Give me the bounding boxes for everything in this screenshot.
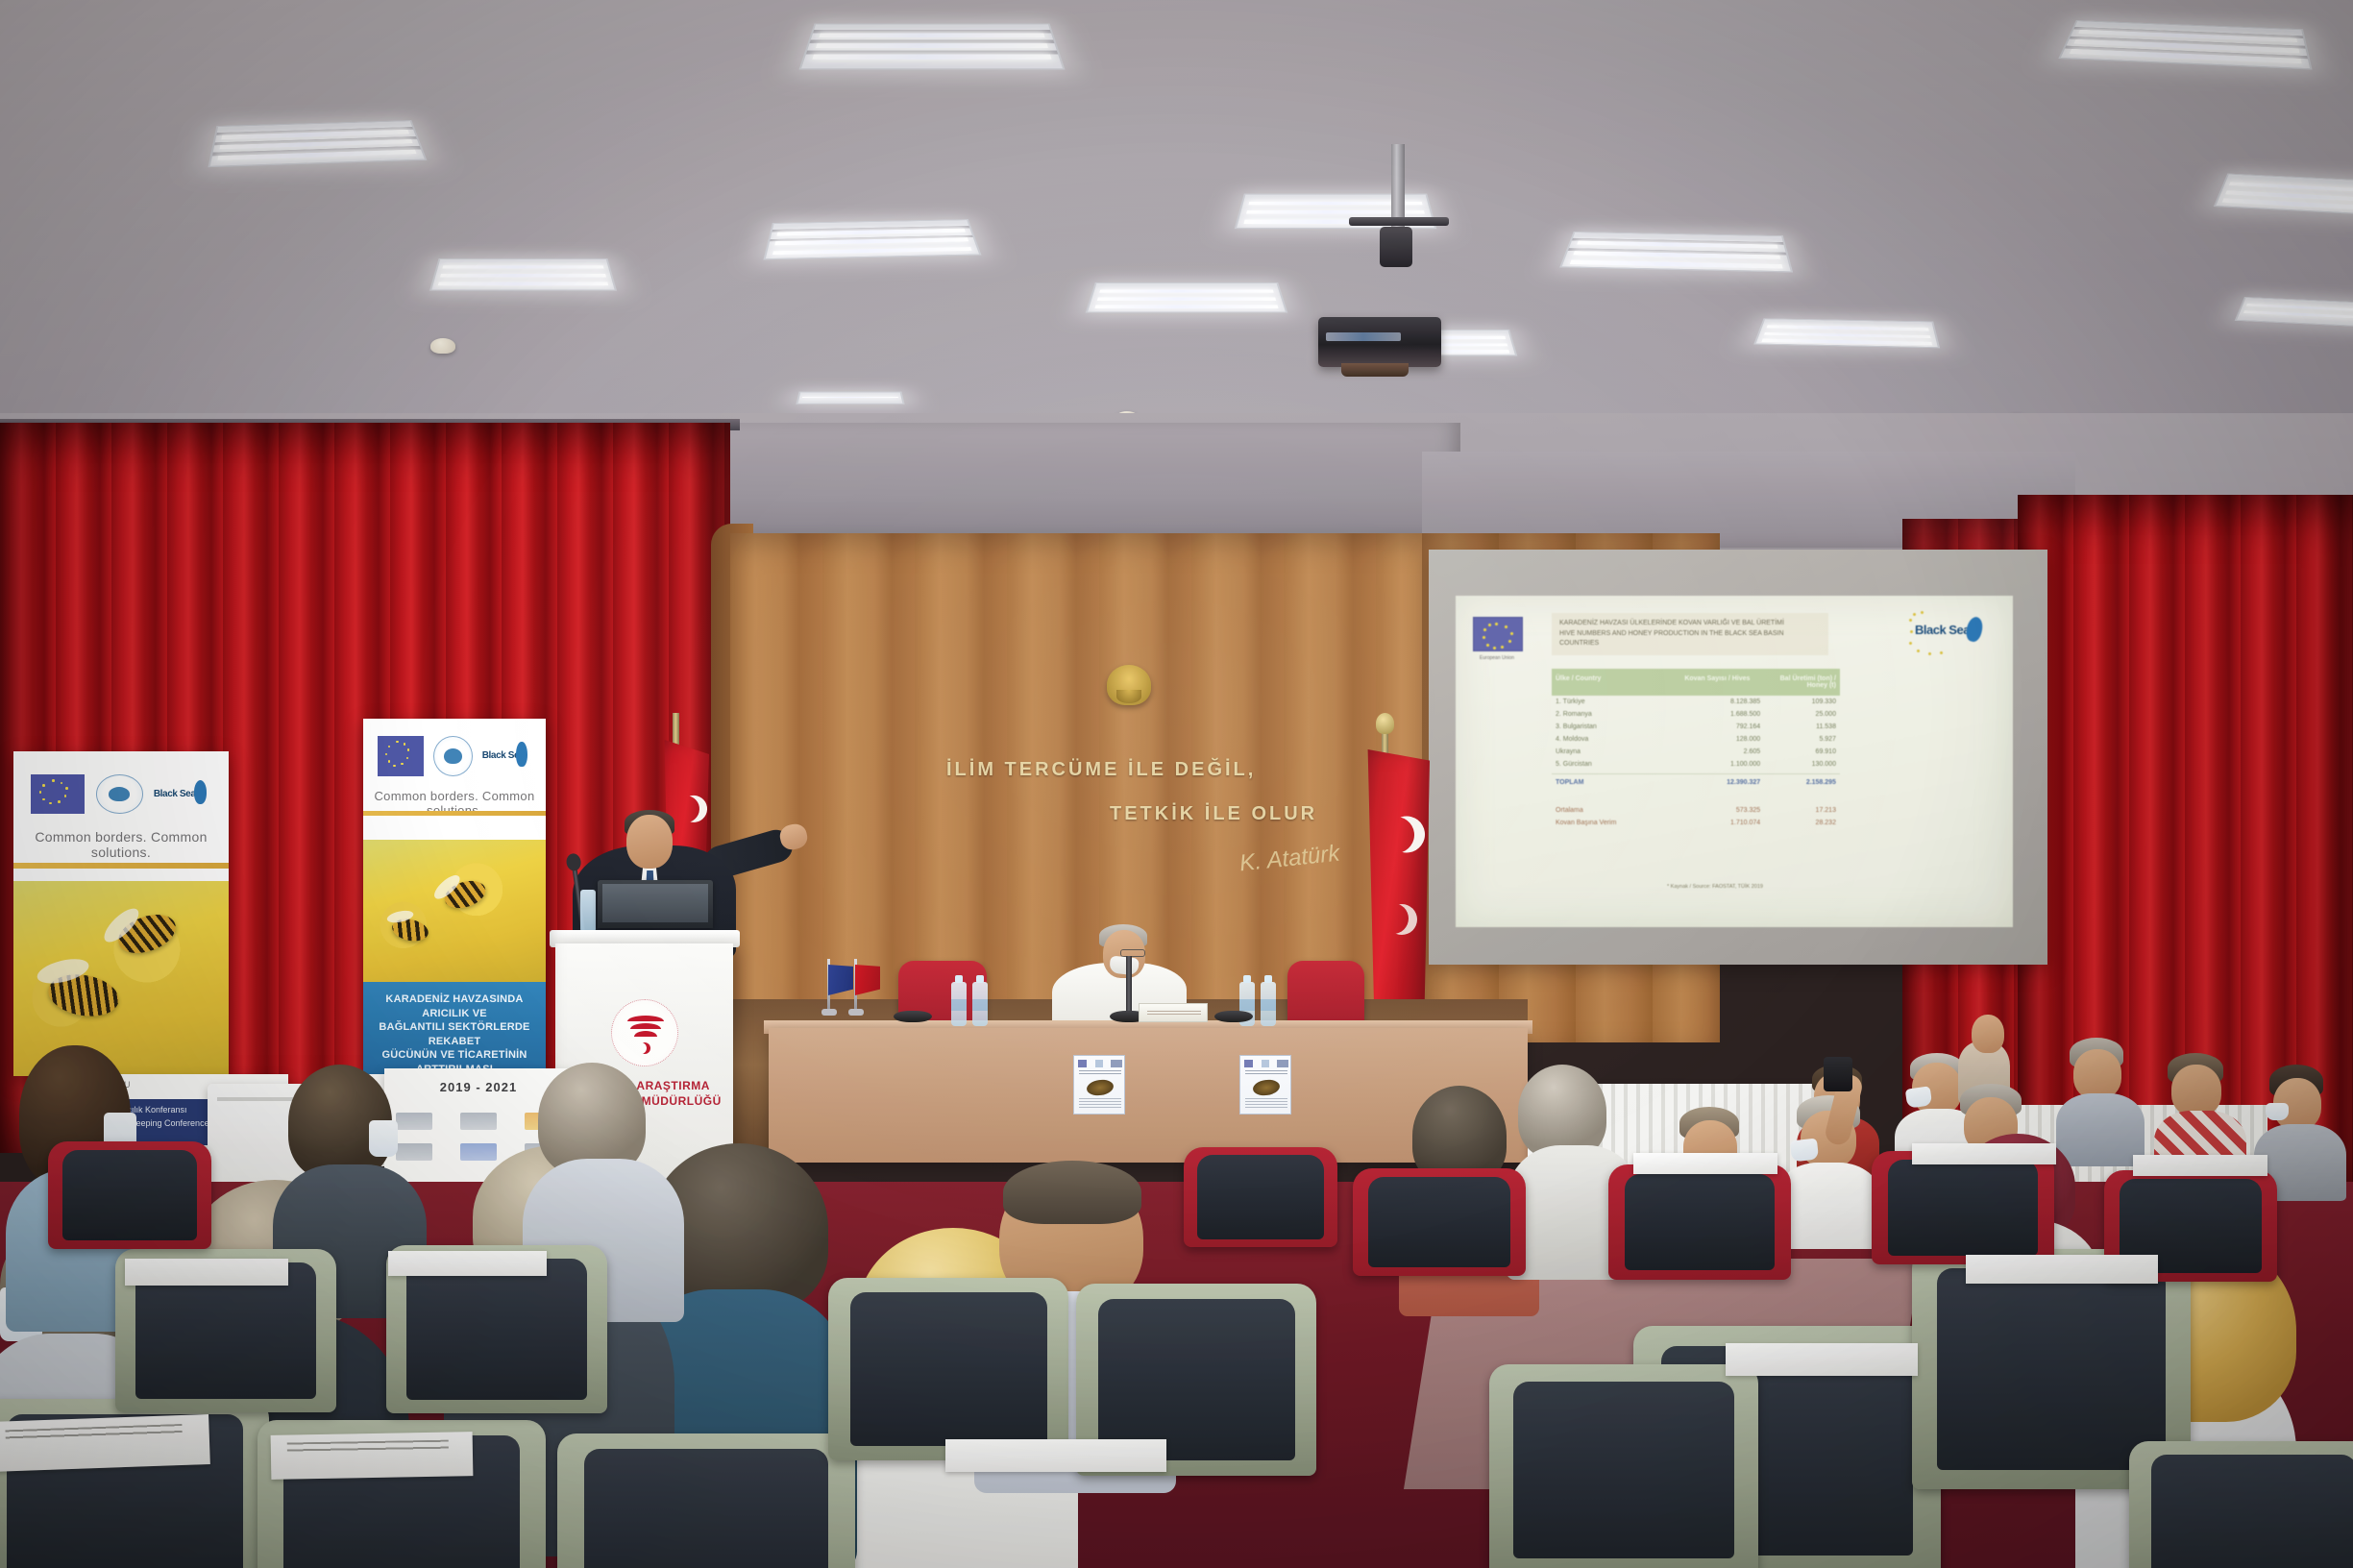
bee-icon	[441, 876, 489, 913]
handout-paper[interactable]	[945, 1439, 1166, 1472]
auditorium-seat[interactable]	[557, 1433, 855, 1568]
bee-project-poster	[1073, 1055, 1125, 1115]
banner-title-tr-1: KARADENİZ HAVZASINDA ARICILIK VE	[374, 992, 534, 1020]
ceiling-light-panel	[208, 120, 427, 167]
eu-flag-logo	[378, 736, 424, 777]
handout-paper[interactable]	[1966, 1255, 2158, 1284]
bee-icon	[1086, 1078, 1115, 1097]
banner-tagline: Common borders. Common solutions.	[26, 829, 215, 860]
crescent-icon	[1378, 903, 1409, 934]
ceiling-light-panel	[798, 23, 1065, 69]
auditorium-seat[interactable]	[828, 1278, 1068, 1460]
face-mask-icon	[2266, 1103, 2289, 1120]
bee-icon	[391, 916, 431, 943]
banner-bee-photo	[13, 881, 229, 1076]
banner-header: Black Sea Common borders. Common solutio…	[363, 719, 546, 840]
table-row: 5. Gürcistan 1.100.000130.000	[1552, 758, 1840, 771]
handout-paper[interactable]	[1633, 1153, 1777, 1174]
institute-crest-icon	[611, 999, 678, 1066]
auditorium-seat[interactable]	[48, 1141, 211, 1249]
smartphone	[1824, 1057, 1852, 1091]
bee-icon	[45, 968, 122, 1020]
table-row: 1. Türkiye 8.128.385109.330	[1552, 696, 1840, 708]
projector-mount-arm	[1349, 217, 1449, 226]
smoke-detector-icon	[430, 338, 455, 354]
handout-paper[interactable]	[2133, 1155, 2267, 1176]
ceiling-light-panel	[796, 392, 904, 404]
face-mask-icon	[369, 1120, 398, 1157]
ceiling-light-panel	[1559, 232, 1793, 273]
projector-mount-joint	[1380, 227, 1412, 267]
col-country: Ülke / Country	[1556, 675, 1684, 689]
col-honey: Bal Üretimi (ton) / Honey (t)	[1760, 675, 1836, 689]
bee-project-poster	[1239, 1055, 1291, 1115]
black-sea-logo: Black Sea	[1907, 611, 1999, 657]
banner-bee-photo	[363, 840, 546, 982]
water-bottle	[972, 982, 988, 1026]
ceiling-light-panel	[429, 258, 617, 291]
eu-flag-logo	[1473, 617, 1523, 651]
black-sea-basin-logo: Black Sea	[482, 736, 531, 777]
face-mask-icon	[1790, 1139, 1819, 1163]
eu-desk-flag	[815, 959, 844, 1009]
slide-header-line1: KARADENİZ HAVZASI ÜLKELERİNDE KOVAN VARL…	[1559, 619, 1821, 629]
slide-header: KARADENİZ HAVZASI ÜLKELERİNDE KOVAN VARL…	[1552, 613, 1828, 655]
wall-quote-line2: TETKİK İLE OLUR	[1110, 803, 1317, 825]
handout-paper[interactable]	[0, 1414, 210, 1472]
auditorium-seat[interactable]	[1353, 1168, 1526, 1276]
microphone-base	[894, 1011, 932, 1022]
joint-operational-programme-logo	[433, 736, 473, 777]
table-extra-row: Kovan Başına Verim 1.710.07428.232	[1552, 817, 1840, 829]
conference-hall-photo: İLİM TERCÜME İLE DEĞİL, TETKİK İLE OLUR …	[0, 0, 2353, 1568]
handout-paper[interactable]	[1912, 1143, 2056, 1164]
table-header-row: Ülke / Country Kovan Sayısı / Hives Bal …	[1552, 669, 1840, 696]
table-row: 2. Romanya 1.688.50025.000	[1552, 708, 1840, 721]
handout-paper[interactable]	[271, 1432, 474, 1480]
microphone-base	[1214, 1011, 1253, 1022]
slide-data-table: Ülke / Country Kovan Sayısı / Hives Bal …	[1552, 669, 1840, 829]
projector-lens-icon	[1341, 363, 1409, 377]
auditorium-seat[interactable]	[2129, 1441, 2353, 1568]
auditorium-seat[interactable]	[1608, 1164, 1791, 1280]
table-row: Ukrayna 2.60569.910	[1552, 746, 1840, 758]
wood-panel-wall	[730, 533, 1470, 1033]
slide-header-line2: HIVE NUMBERS AND HONEY PRODUCTION IN THE…	[1559, 629, 1821, 649]
glasses-icon	[1120, 949, 1145, 957]
banner-logo-row: Black Sea	[31, 774, 211, 814]
ceiling-light-panel	[1753, 318, 1940, 348]
banner-partner-logos	[396, 1109, 561, 1134]
water-bottle	[1261, 982, 1276, 1026]
bee-icon	[112, 907, 181, 960]
rollup-banner-left: Black Sea Common borders. Common solutio…	[13, 751, 229, 1076]
wall-emblem-icon	[1107, 665, 1151, 705]
flagpole-finial-icon	[1376, 713, 1394, 734]
table-row: 3. Bulgaristan 792.16411.538	[1552, 721, 1840, 733]
rollup-banner-main: Black Sea Common borders. Common solutio…	[363, 719, 546, 1074]
banner-logo-row: Black Sea	[378, 736, 531, 777]
presentation-slide: European Union Black Sea KARADENİZ HAVZA…	[1456, 596, 2013, 927]
banner-rule	[363, 811, 546, 816]
water-bottle	[951, 982, 967, 1026]
col-hives: Kovan Sayısı / Hives	[1684, 675, 1760, 689]
presenter-head	[626, 815, 673, 869]
banner-rule	[13, 863, 229, 868]
eu-flag-logo	[31, 774, 85, 814]
table-microphone	[1126, 956, 1132, 1016]
handout-paper[interactable]	[125, 1259, 288, 1286]
ceiling-light-panel	[763, 219, 981, 259]
joint-operational-programme-logo	[96, 774, 143, 814]
banner-header: Black Sea Common borders. Common solutio…	[13, 751, 229, 881]
auditorium-seat[interactable]	[1184, 1147, 1337, 1247]
ceiling-light-panel	[1086, 282, 1288, 313]
auditorium-seat[interactable]	[1872, 1151, 2054, 1264]
nameplate	[1139, 1003, 1208, 1022]
wall-quote-line1: İLİM TERCÜME İLE DEĞİL,	[946, 759, 1256, 781]
bee-icon	[1252, 1078, 1281, 1097]
black-sea-logo-text: Black Sea	[1915, 623, 1970, 637]
banner-title-tr-2: BAĞLANTILI SEKTÖRLERDE REKABET	[374, 1020, 534, 1048]
crescent-icon	[635, 1042, 647, 1054]
table-extra-row: Ortalama 573.32517.213	[1552, 804, 1840, 817]
stage-soffit	[711, 423, 1460, 548]
handout-paper[interactable]	[388, 1251, 547, 1276]
ceiling-projector	[1318, 317, 1441, 367]
slide-eu-caption: European Union	[1467, 655, 1527, 662]
auditorium-seat[interactable]	[1489, 1364, 1758, 1568]
slide-footnote: * Kaynak / Source: FAOSTAT, TÜİK 2019	[1600, 884, 1830, 890]
presenter-laptop	[598, 880, 713, 928]
table-total-row: TOPLAM 12.390.3272.158.295	[1552, 773, 1840, 789]
banner-title-block: KARADENİZ HAVZASINDA ARICILIK VE BAĞLANT…	[363, 982, 546, 1074]
handout-paper[interactable]	[1726, 1343, 1918, 1376]
black-sea-basin-logo: Black Sea	[154, 774, 211, 814]
black-sea-logo-text: Black Sea	[154, 789, 196, 799]
table-row: 4. Moldova 128.0005.927	[1552, 733, 1840, 746]
water-bottle	[580, 890, 596, 932]
turkish-desk-flag	[842, 959, 870, 1009]
